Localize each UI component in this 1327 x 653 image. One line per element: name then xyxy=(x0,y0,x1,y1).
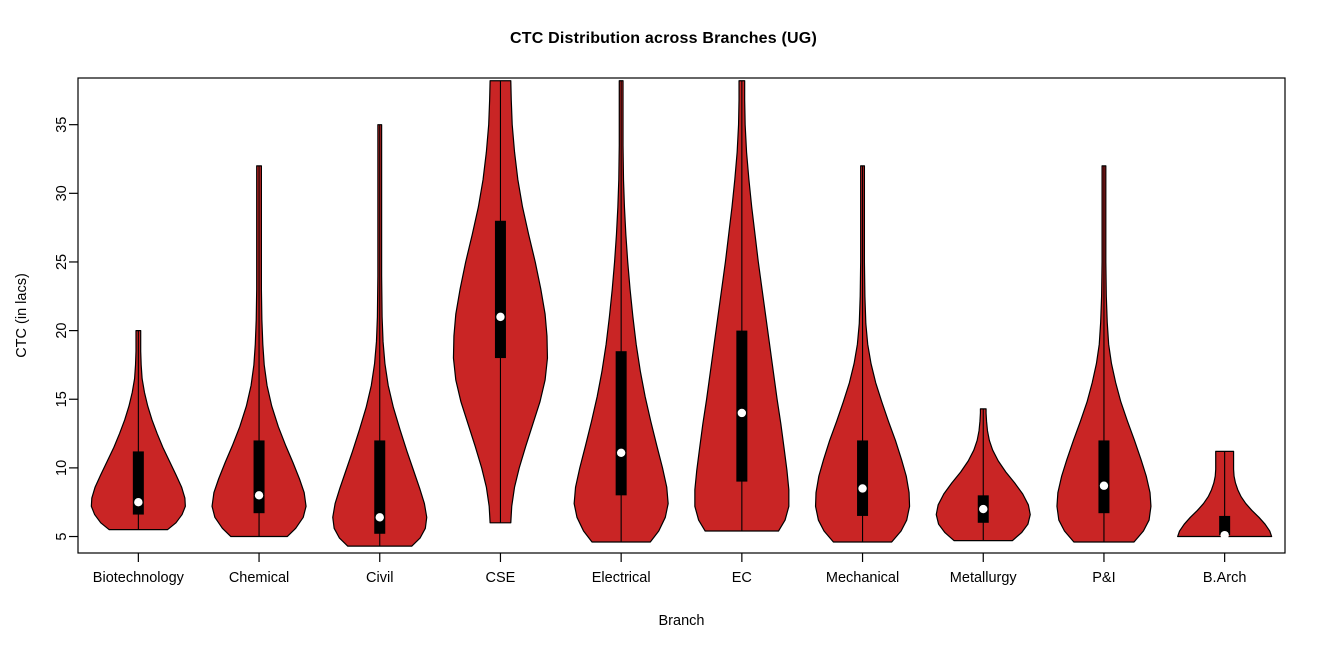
median-marker xyxy=(496,313,504,321)
median-marker xyxy=(738,409,746,417)
y-axis-tick-label: 35 xyxy=(54,117,70,133)
median-marker xyxy=(858,484,866,492)
x-axis-tick-label: CSE xyxy=(486,570,516,586)
y-axis-tick-label: 10 xyxy=(54,460,70,476)
violin-mechanical xyxy=(816,166,910,542)
x-axis-tick-label: Mechanical xyxy=(826,570,899,586)
median-marker xyxy=(1220,531,1228,539)
median-marker xyxy=(376,513,384,521)
x-axis-tick-label: B.Arch xyxy=(1203,570,1247,586)
violin-metallurgy xyxy=(936,409,1030,541)
iqr-box xyxy=(857,440,868,516)
y-axis-tick-label: 5 xyxy=(54,532,70,540)
violin-cse xyxy=(453,81,547,523)
iqr-box xyxy=(1098,440,1109,513)
violin-civil xyxy=(333,125,427,546)
iqr-box xyxy=(616,351,627,495)
violin-biotechnology xyxy=(91,331,185,530)
y-axis-tick-label: 20 xyxy=(54,323,70,339)
x-axis-tick-label: Chemical xyxy=(229,570,289,586)
violin-p-i xyxy=(1057,166,1151,542)
violin-electrical xyxy=(574,81,668,542)
iqr-box xyxy=(495,221,506,358)
violin-ec xyxy=(695,81,789,531)
median-marker xyxy=(979,505,987,513)
violin-chemical xyxy=(212,166,306,537)
iqr-box xyxy=(736,331,747,482)
median-marker xyxy=(255,491,263,499)
y-axis-tick-label: 25 xyxy=(54,254,70,270)
x-axis-tick-label: Metallurgy xyxy=(950,570,1018,586)
y-axis-tick-label: 15 xyxy=(54,391,70,407)
x-axis-tick-label: Civil xyxy=(366,570,393,586)
median-marker xyxy=(134,498,142,506)
median-marker xyxy=(1100,482,1108,490)
violin-plot-figure: CTC Distribution across Branches (UG) 51… xyxy=(0,0,1327,653)
x-axis-tick-label: P&I xyxy=(1092,570,1115,586)
median-marker xyxy=(617,449,625,457)
x-axis-tick-label: EC xyxy=(732,570,752,586)
x-axis-tick-label: Biotechnology xyxy=(93,570,185,586)
iqr-box xyxy=(254,440,265,513)
y-axis-title: CTC (in lacs) xyxy=(14,273,30,358)
y-axis-tick-label: 30 xyxy=(54,185,70,201)
x-axis-tick-label: Electrical xyxy=(592,570,651,586)
violin-plot-canvas: 5101520253035CTC (in lacs)BiotechnologyC… xyxy=(0,0,1327,653)
violin-b-arch xyxy=(1178,451,1272,539)
x-axis-title: Branch xyxy=(659,613,705,629)
